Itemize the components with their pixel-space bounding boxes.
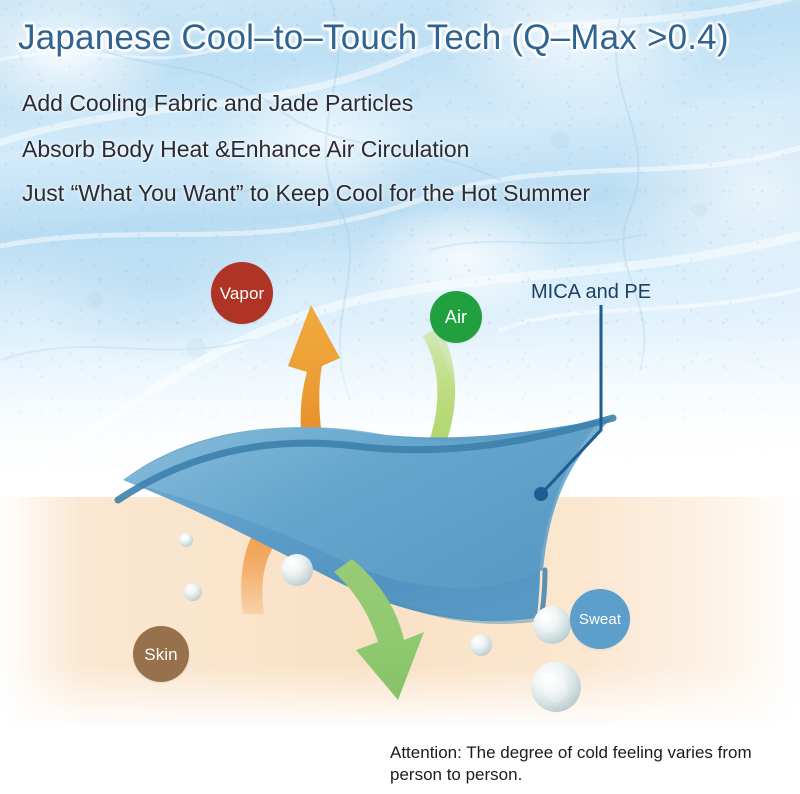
cooling-tech-infographic: Japanese Cool–to–Touch Tech (Q–Max >0.4)… [0, 0, 800, 794]
badge-skin-label: Skin [144, 646, 177, 663]
badge-air-label: Air [445, 308, 467, 326]
badge-skin: Skin [133, 626, 189, 682]
attention-note: Attention: The degree of cold feeling va… [390, 742, 790, 787]
badge-vapor: Vapor [211, 262, 273, 324]
cooling-mechanism-diagram [0, 0, 800, 794]
badge-air: Air [430, 291, 482, 343]
badge-vapor-label: Vapor [220, 285, 265, 302]
badge-sweat: Sweat [570, 589, 630, 649]
badge-sweat-label: Sweat [579, 612, 621, 627]
mica-pe-callout-label: MICA and PE [531, 281, 651, 304]
